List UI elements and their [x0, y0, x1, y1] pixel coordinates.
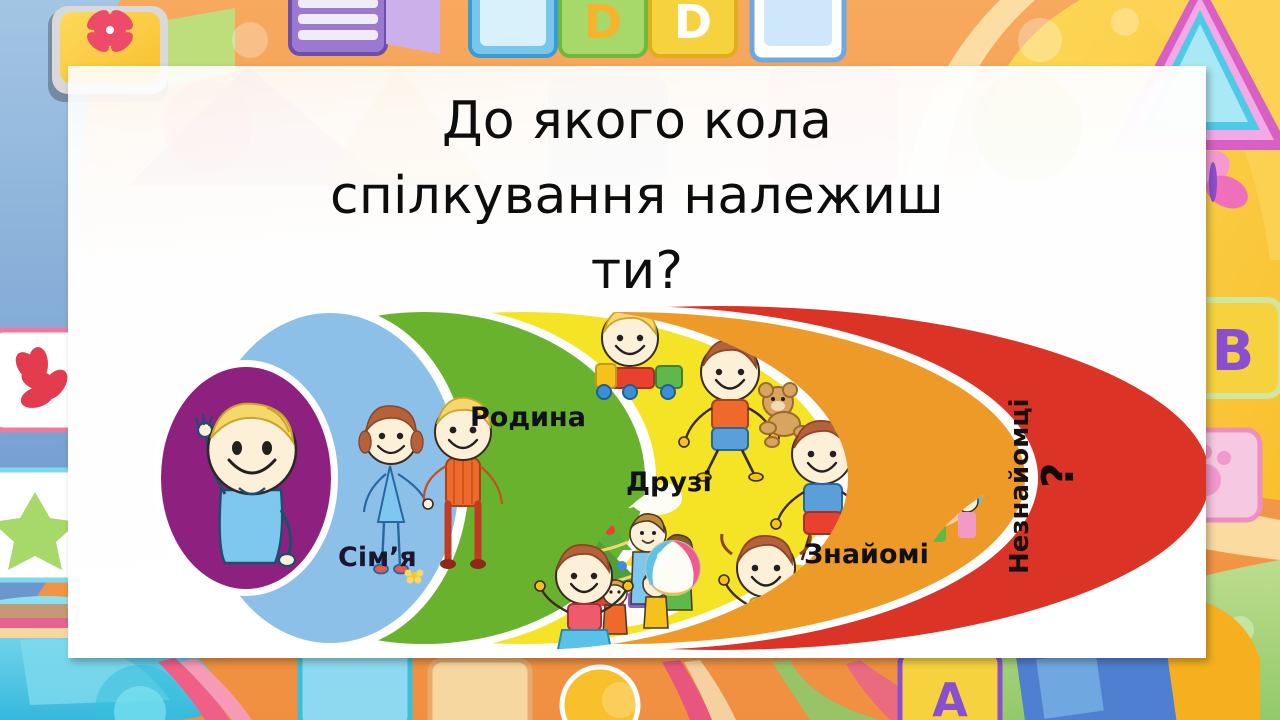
slide-title: До якого кола спілкування належиш ти? — [68, 84, 1206, 309]
diagram-svg: Сім’я Родина Друзі Знайомі Незнайомці ? — [98, 306, 1118, 651]
question-mark: ? — [1033, 462, 1084, 488]
svg-text:B: B — [1212, 319, 1255, 384]
ring-label-znayomi: Знайомі — [804, 539, 929, 570]
slide-content-panel: До якого кола спілкування належиш ти? — [68, 66, 1206, 658]
circles-of-communication-diagram: Сім’я Родина Друзі Знайомі Незнайомці ? — [98, 306, 1118, 651]
ring-label-neznayomci: Незнайомці — [1005, 398, 1035, 574]
ring-label-druzi: Друзі — [626, 467, 712, 498]
ring-label-rodyna: Родина — [470, 402, 586, 433]
ring-label-simya: Сім’я — [338, 542, 417, 573]
svg-text:D: D — [584, 0, 622, 49]
svg-text:A: A — [932, 673, 968, 720]
svg-text:D: D — [674, 0, 712, 49]
